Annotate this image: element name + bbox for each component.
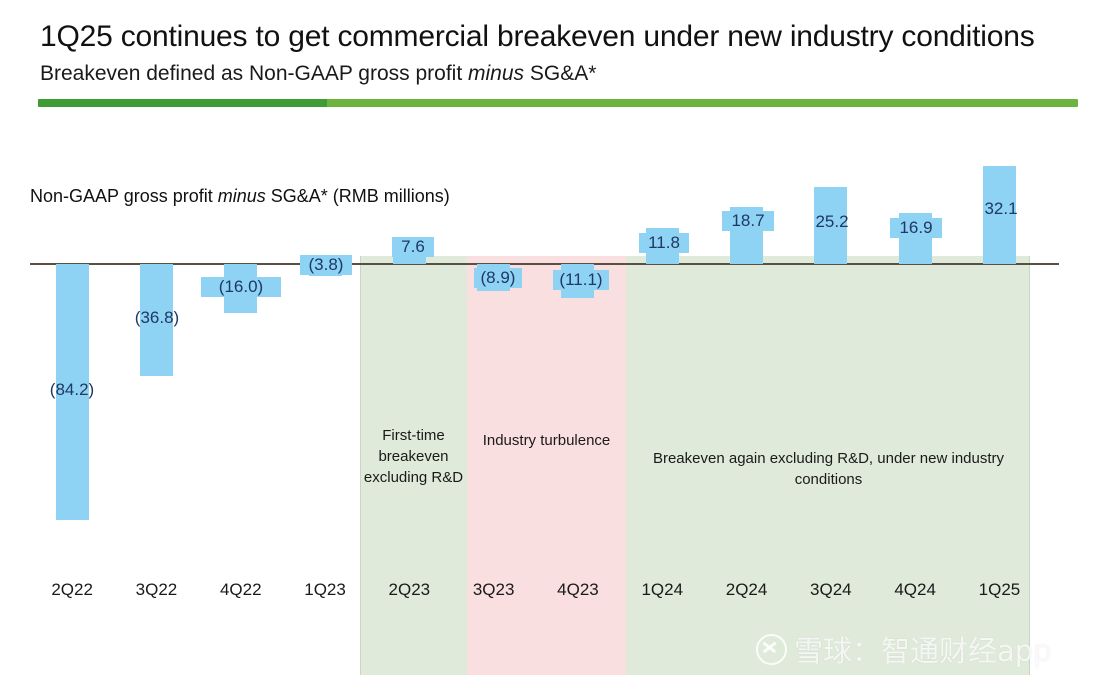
phase-label-industry-turbulence: Industry turbulence	[470, 430, 623, 451]
value-label-3Q22: (36.8)	[117, 308, 197, 328]
value-label-3Q24: 25.2	[806, 212, 858, 232]
value-label-4Q22: (16.0)	[201, 277, 281, 297]
category-label-4Q22: 4Q22	[199, 580, 283, 600]
category-label-3Q22: 3Q22	[114, 580, 198, 600]
slide: 1Q25 continues to get commercial breakev…	[0, 0, 1106, 691]
phase-band-industry-turbulence	[467, 256, 627, 675]
phase-label-breakeven-again: Breakeven again excluding R&D, under new…	[636, 448, 1021, 490]
category-label-1Q24: 1Q24	[620, 580, 704, 600]
chart-axis-title: Non-GAAP gross profit minus SG&A* (RMB m…	[30, 186, 450, 207]
category-label-2Q23: 2Q23	[367, 580, 451, 600]
phase-label-first-time-breakeven: First-time breakeven excluding R&D	[362, 425, 465, 488]
watermark: 雪球：智通财经app	[756, 628, 1052, 670]
xueqiu-logo-icon	[756, 634, 787, 665]
category-label-1Q23: 1Q23	[283, 580, 367, 600]
axis-title-post: SG&A* (RMB millions)	[266, 186, 450, 206]
watermark-text: 雪球：智通财经app	[794, 628, 1052, 670]
category-label-4Q23: 4Q23	[536, 580, 620, 600]
value-label-1Q23: (3.8)	[300, 255, 352, 275]
value-label-1Q24: 11.8	[639, 233, 689, 253]
value-label-2Q23: 7.6	[392, 237, 434, 257]
waterfall-chart: Non-GAAP gross profit minus SG&A* (RMB m…	[0, 0, 1106, 691]
category-label-3Q24: 3Q24	[789, 580, 873, 600]
axis-title-italic: minus	[218, 186, 266, 206]
category-label-2Q22: 2Q22	[30, 580, 114, 600]
category-label-3Q23: 3Q23	[452, 580, 536, 600]
category-label-2Q24: 2Q24	[705, 580, 789, 600]
value-label-2Q22: (84.2)	[32, 380, 112, 400]
category-label-4Q24: 4Q24	[873, 580, 957, 600]
value-label-2Q24: 18.7	[722, 211, 774, 231]
value-label-4Q23: (11.1)	[553, 270, 609, 290]
value-label-3Q23: (8.9)	[474, 268, 522, 288]
axis-title-pre: Non-GAAP gross profit	[30, 186, 218, 206]
category-label-1Q25: 1Q25	[957, 580, 1041, 600]
value-label-1Q25: 32.1	[975, 199, 1027, 219]
value-label-4Q24: 16.9	[890, 218, 942, 238]
